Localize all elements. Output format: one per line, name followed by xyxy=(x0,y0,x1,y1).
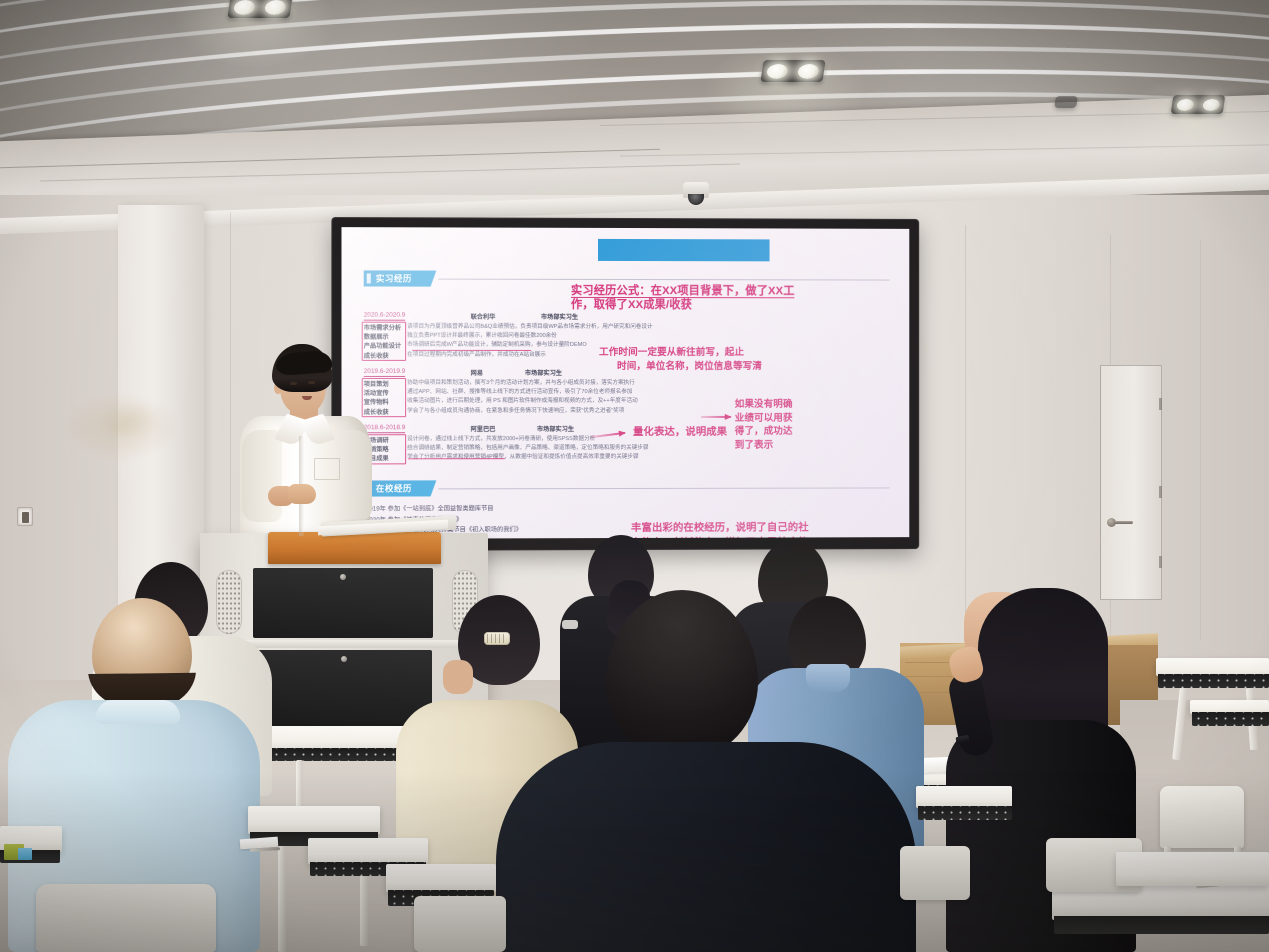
collar-trim xyxy=(562,620,578,629)
desk[interactable] xyxy=(386,864,496,892)
entry-row: 活动宣传 通过APP、网站、社群、搜推等线上线下的方式进行活动宣传，吸引了70余… xyxy=(364,388,725,397)
annotation-arrow-achievement xyxy=(701,416,731,418)
ceiling-spotlight-2 xyxy=(760,60,825,82)
entry-row: 营销策略 结合调研结果，制定营销策略，包括用户画像、产品策略、渠道策略，定位策略… xyxy=(364,444,725,454)
lectern-panel-lower[interactable] xyxy=(256,650,432,728)
polo-collar xyxy=(806,664,850,692)
lectern-desktop xyxy=(268,532,441,564)
hair-clip xyxy=(484,632,510,645)
classroom-photo: 实习经历 实习经历公式：在XX项目背景下，做了XX工 作，取得了XX成果/收获 … xyxy=(0,0,1269,952)
annotation-quantify: 量化表达，说明成果 xyxy=(633,426,792,441)
chair[interactable] xyxy=(1160,786,1244,848)
entry-row: 成长收获 学会了与各小组成员沟通协商，在紧急和多任务情况下快速响应，荣获“优秀之… xyxy=(364,407,725,416)
wall-outlet[interactable] xyxy=(17,507,33,526)
slide-content: 实习经历 实习经历公式：在XX项目背景下，做了XX工 作，取得了XX成果/收获 … xyxy=(341,227,909,539)
slide-section-tag-internship: 实习经历 xyxy=(364,270,437,286)
ceiling-spotlight-3 xyxy=(1171,95,1226,114)
ceiling-spotlight-1 xyxy=(227,0,292,18)
projector-screen[interactable]: 实习经历 实习经历公式：在XX项目背景下，做了XX工 作，取得了XX成果/收获 … xyxy=(332,218,918,550)
door[interactable] xyxy=(1100,365,1162,600)
entry-row: 数据展示 独立负责PPT设计并最终展示，累计收回问卷最佳数200余份 xyxy=(364,332,725,342)
desk[interactable] xyxy=(248,806,380,834)
ceiling-spotlight-4 xyxy=(1054,96,1078,108)
annotation-formula: 实习经历公式：在XX项目背景下，做了XX工 作，取得了XX成果/收获 xyxy=(571,284,909,313)
chair[interactable] xyxy=(36,884,216,952)
entry-row: 宣传物料 收集活动图片，进行后期处理，用 PS 和图片软件制作成海报和视频的方式… xyxy=(364,397,725,406)
desk[interactable] xyxy=(1116,852,1269,886)
door-handle-icon[interactable] xyxy=(1114,521,1133,524)
presenter xyxy=(232,344,378,544)
presenter-hand-right xyxy=(288,484,316,504)
entry-row: 项目策划 协助中级项目和策划活动，撰写3个月的活动计划方案，并与各小组成员对接，… xyxy=(364,379,725,388)
list-item: 2019年 参加《一站到底》全国益智类题库节目 xyxy=(366,504,647,515)
lectern-panel-upper[interactable] xyxy=(253,568,433,638)
notebook[interactable] xyxy=(18,848,32,860)
desk[interactable] xyxy=(308,838,428,864)
dome-camera-icon xyxy=(683,182,709,198)
shirt-collar xyxy=(96,700,180,724)
entry-row: 市场需求分析 该项目为丹夏顶级营养品公司B&Q业绩预估，负责项目级WP品市场需求… xyxy=(364,323,725,333)
internship-entry-2: 2019.6-2019.9 网易 市场部实习生 项目策划 协助中级项目和策划活动… xyxy=(364,368,725,416)
chair[interactable] xyxy=(414,896,506,952)
chair[interactable] xyxy=(900,846,970,900)
presenter-arm-left xyxy=(242,430,282,522)
annotation-campus: 丰富出彩的在校经历，说明了自己的社 交能力、创新能力，增加了自己综合能 力背书 xyxy=(631,521,899,539)
desk[interactable] xyxy=(916,786,1012,808)
lectern-speaker-grille-left xyxy=(216,570,242,634)
slide-blue-banner xyxy=(598,239,770,261)
presenter-shirt-pocket xyxy=(314,458,340,480)
